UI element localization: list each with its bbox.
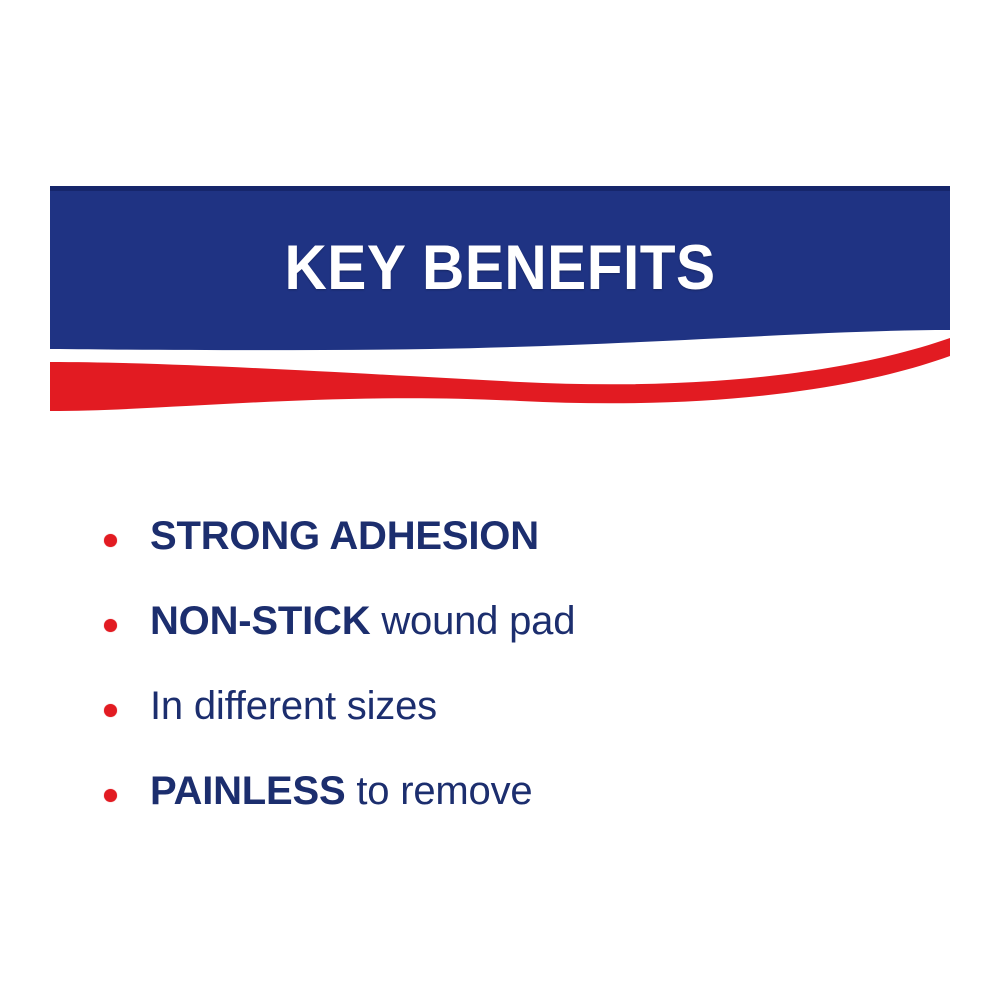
benefits-list: STRONG ADHESION NON-STICK wound pad In d… [104, 512, 934, 852]
bullet-dot-icon [104, 789, 117, 802]
list-item-label: NON-STICK wound pad [150, 597, 575, 645]
key-benefits-banner: KEY BENEFITS [0, 0, 1000, 430]
list-item: NON-STICK wound pad [104, 597, 934, 682]
list-item-strong-text: NON-STICK [150, 599, 370, 643]
list-item-label: In different sizes [150, 682, 437, 730]
list-item-label: PAINLESS to remove [150, 767, 532, 815]
banner-top-edge-line [50, 186, 950, 191]
bullet-dot-icon [104, 704, 117, 717]
list-item: STRONG ADHESION [104, 512, 934, 597]
list-item-normal-text: In different sizes [150, 684, 437, 728]
bullet-dot-icon [104, 619, 117, 632]
page-root: KEY BENEFITS STRONG ADHESION NON-STICK w… [0, 0, 1000, 1000]
list-item-strong-text: PAINLESS [150, 769, 345, 813]
list-item-normal-text: wound pad [370, 599, 575, 643]
banner-wave-graphic [0, 0, 1000, 430]
list-item-normal-text: to remove [345, 769, 532, 813]
page-title: KEY BENEFITS [82, 232, 919, 304]
list-item-label: STRONG ADHESION [150, 512, 539, 560]
bullet-dot-icon [104, 534, 117, 547]
list-item-strong-text: STRONG ADHESION [150, 514, 539, 558]
list-item: In different sizes [104, 682, 934, 767]
list-item: PAINLESS to remove [104, 767, 934, 852]
